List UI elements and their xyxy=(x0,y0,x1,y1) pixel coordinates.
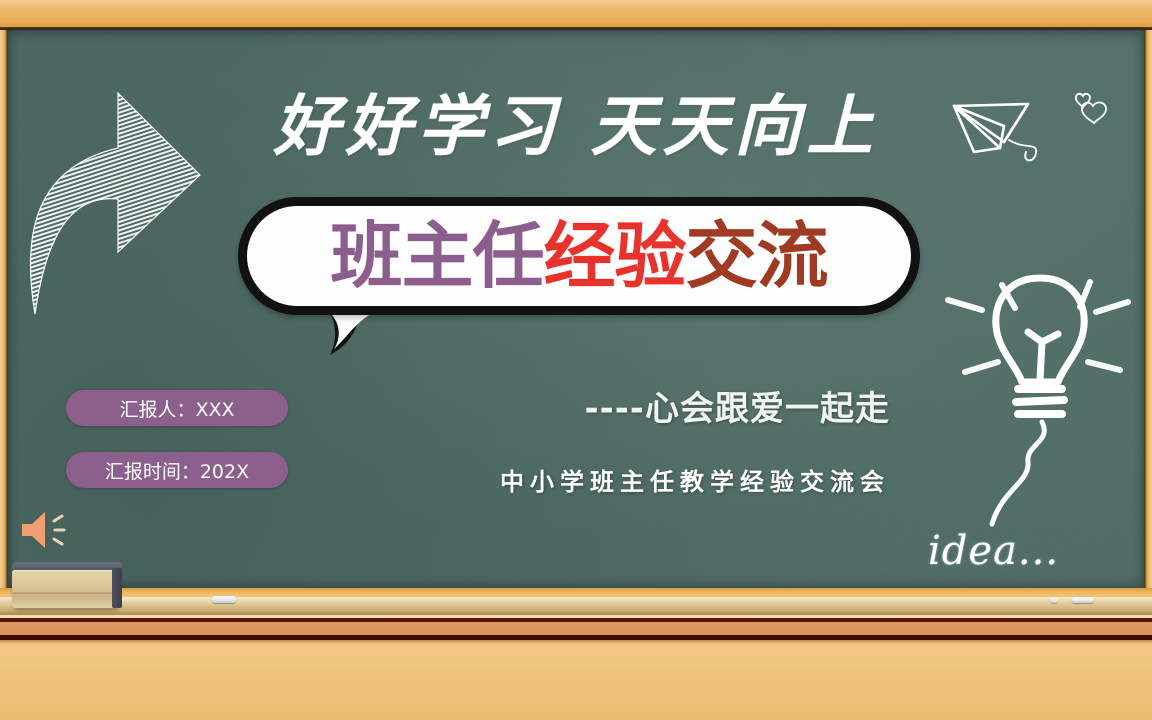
chalk-stick[interactable] xyxy=(1050,598,1058,603)
page-title: 班主任 经验 交流 xyxy=(247,206,911,306)
chalk-tray xyxy=(0,588,1152,622)
frame-right-edge xyxy=(1144,0,1152,620)
eraser-body xyxy=(12,570,116,608)
wall-ledge xyxy=(0,622,1152,644)
board-eraser[interactable] xyxy=(12,562,122,606)
event-name-text: 中小学班主任教学经验交流会 xyxy=(400,462,890,497)
idea-label: idea... xyxy=(928,528,1059,574)
presenter-badge-label: 汇报人：XXX xyxy=(119,395,234,422)
chalkboard-surface: idea... 好好学习 天天向上 班主任 经验 交流 汇报人：XXX 汇报时间… xyxy=(8,30,1144,588)
ledge-band-salmon xyxy=(0,622,1152,635)
headline-calligraphy: 好好学习 天天向上 xyxy=(236,82,916,170)
tray-band-face xyxy=(0,597,1152,615)
title-part-purple: 班主任 xyxy=(330,220,543,292)
slide-canvas: idea... 好好学习 天天向上 班主任 经验 交流 汇报人：XXX 汇报时间… xyxy=(0,0,1152,720)
speaker-icon[interactable] xyxy=(18,508,74,552)
title-part-rust: 交流 xyxy=(686,220,828,292)
tagline-text: ----心会跟爱一起走 xyxy=(420,381,890,430)
bubble-shape: 班主任 经验 交流 xyxy=(238,197,920,315)
frame-top-edge xyxy=(0,0,1152,30)
tray-band-top xyxy=(0,588,1152,597)
presenter-badge: 汇报人：XXX xyxy=(66,390,288,426)
chalk-stick[interactable] xyxy=(1072,597,1094,603)
date-badge-label: 汇报时间：202X xyxy=(105,457,249,484)
title-speech-bubble: 班主任 经验 交流 xyxy=(238,197,920,347)
chalk-stick[interactable] xyxy=(212,596,236,603)
eraser-side xyxy=(112,568,122,608)
date-badge: 汇报时间：202X xyxy=(66,452,288,488)
title-part-red: 经验 xyxy=(543,220,685,292)
frame-left-edge xyxy=(0,0,8,620)
ledge-band-fade xyxy=(0,640,1152,644)
